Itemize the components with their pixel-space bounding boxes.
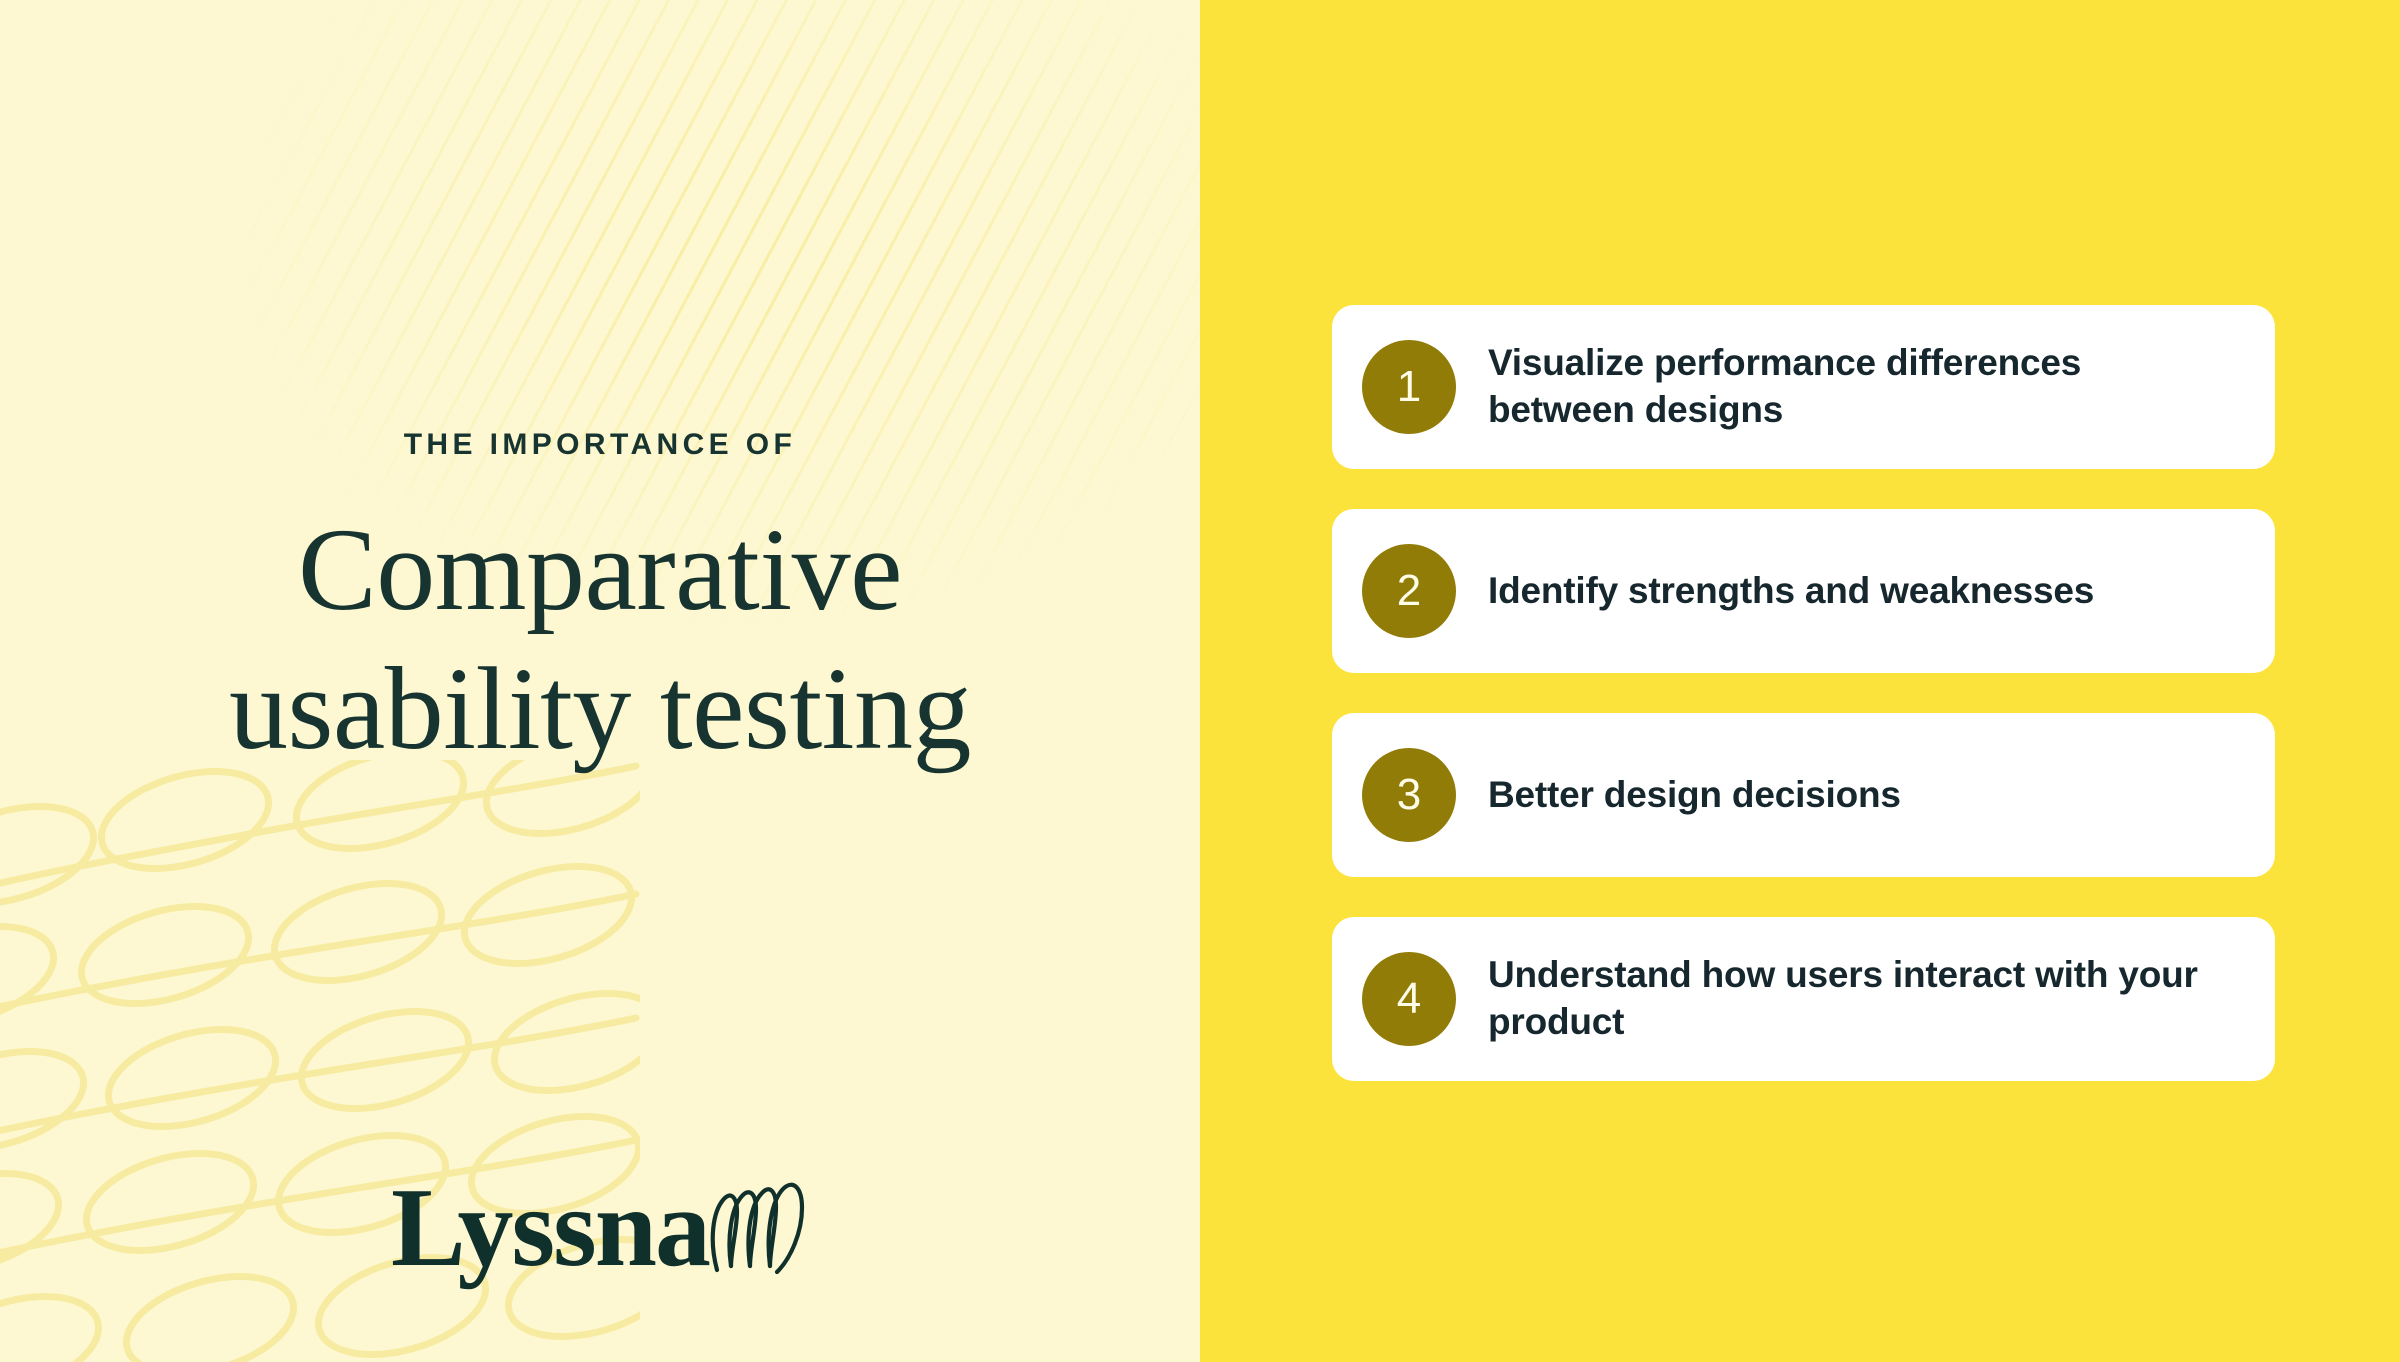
number-badge: 4	[1362, 952, 1456, 1046]
page-title: Comparative usability testing	[60, 500, 1140, 778]
lyssna-logo: Lyssna	[0, 1172, 1200, 1284]
number-badge: 3	[1362, 748, 1456, 842]
slide-canvas: THE IMPORTANCE OF Comparative usability …	[0, 0, 2400, 1362]
logo-wordmark: Lyssna	[391, 1172, 709, 1284]
list-item-label: Understand how users interact with your …	[1488, 952, 2235, 1045]
number-badge: 1	[1362, 340, 1456, 434]
left-panel: THE IMPORTANCE OF Comparative usability …	[0, 0, 1200, 1362]
number-badge-label: 3	[1397, 773, 1421, 817]
list-item-label: Better design decisions	[1488, 772, 1901, 819]
left-content: THE IMPORTANCE OF Comparative usability …	[0, 0, 1200, 1362]
headline-line-1: Comparative	[298, 504, 902, 635]
number-badge-label: 2	[1397, 569, 1421, 613]
headline-line-2: usability testing	[229, 643, 971, 774]
number-badge: 2	[1362, 544, 1456, 638]
right-panel: 1 Visualize performance differences betw…	[1200, 0, 2400, 1362]
list-item-label: Identify strengths and weaknesses	[1488, 568, 2094, 615]
list-item[interactable]: 4 Understand how users interact with you…	[1332, 917, 2275, 1081]
list-item[interactable]: 2 Identify strengths and weaknesses	[1332, 509, 2275, 673]
number-badge-label: 1	[1397, 365, 1421, 409]
list-item-label: Visualize performance differences betwee…	[1488, 340, 2235, 433]
squiggle-loops-icon	[703, 1178, 809, 1278]
list-item[interactable]: 3 Better design decisions	[1332, 713, 2275, 877]
list-item[interactable]: 1 Visualize performance differences betw…	[1332, 305, 2275, 469]
benefits-list: 1 Visualize performance differences betw…	[1332, 305, 2275, 1081]
number-badge-label: 4	[1397, 977, 1421, 1021]
eyebrow-text: THE IMPORTANCE OF	[0, 428, 1200, 462]
